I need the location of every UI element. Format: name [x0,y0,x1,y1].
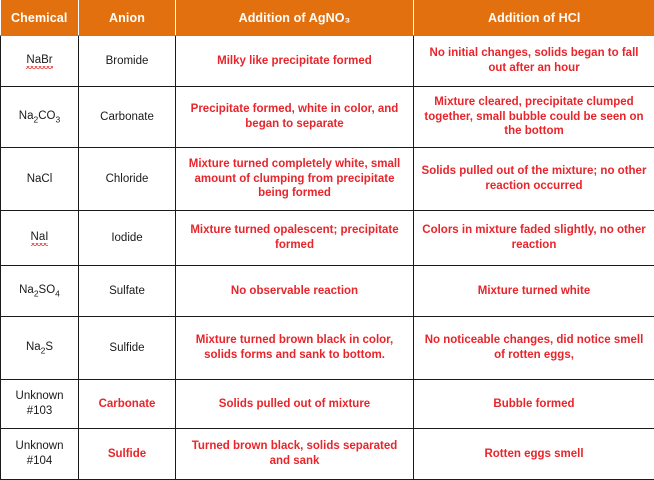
table-row: Na2SO4 Sulfate No observable reaction Mi… [1,266,654,317]
cell-chemical: NaCl [1,148,79,211]
cell-hcl-observation: Solids pulled out of the mixture; no oth… [414,148,654,211]
column-header-addition-of-hcl: Addition of HCl [414,0,654,36]
table-row: Na2CO3 Carbonate Precipitate formed, whi… [1,87,654,148]
cell-hcl-observation: Mixture turned white [414,266,654,317]
chemical-name: Na2S [26,341,53,353]
cell-hcl-observation: Bubble formed [414,380,654,429]
cell-anion: Chloride [79,148,176,211]
cell-chemical: NaBr [1,36,79,87]
cell-hcl-observation: No initial changes, solids began to fall… [414,36,654,87]
column-header-anion: Anion [79,0,176,36]
table-row: Unknown#104 Sulfide Turned brown black, … [1,429,654,480]
table-row: NaCl Chloride Mixture turned completely … [1,148,654,211]
cell-anion: Bromide [79,36,176,87]
cell-chemical: Na2SO4 [1,266,79,317]
cell-hcl-observation: Colors in mixture faded slightly, no oth… [414,211,654,266]
header-row: Chemical Anion Addition of AgNO₃ Additio… [1,0,654,36]
chemical-name: Na2SO4 [19,284,60,296]
cell-hcl-observation: Rotten eggs smell [414,429,654,480]
cell-agno3-observation: Precipitate formed, white in color, and … [176,87,414,148]
cell-anion: Sulfide [79,317,176,380]
cell-anion: Carbonate [79,87,176,148]
cell-agno3-observation: Turned brown black, solids separated and… [176,429,414,480]
cell-hcl-observation: No noticeable changes, did notice smell … [414,317,654,380]
chemical-name: NaBr [26,53,52,69]
cell-agno3-observation: Milky like precipitate formed [176,36,414,87]
table-row: NaBr Bromide Milky like precipitate form… [1,36,654,87]
table-body: NaBr Bromide Milky like precipitate form… [1,36,654,480]
cell-chemical: Na2CO3 [1,87,79,148]
table-row: NaI Iodide Mixture turned opalescent; pr… [1,211,654,266]
column-header-addition-of-agno3: Addition of AgNO₃ [176,0,414,36]
chemical-observations-table: Chemical Anion Addition of AgNO₃ Additio… [0,0,654,480]
cell-hcl-observation: Mixture cleared, precipitate clumped tog… [414,87,654,148]
table-row: Na2S Sulfide Mixture turned brown black … [1,317,654,380]
cell-agno3-observation: Mixture turned completely white, small a… [176,148,414,211]
table-header: Chemical Anion Addition of AgNO₃ Additio… [1,0,654,36]
cell-anion: Sulfide [79,429,176,480]
cell-chemical: NaI [1,211,79,266]
column-header-chemical: Chemical [1,0,79,36]
chemical-name: NaI [31,230,49,246]
cell-chemical: Unknown#103 [1,380,79,429]
cell-chemical: Unknown#104 [1,429,79,480]
chemical-name: NaCl [27,173,53,185]
cell-chemical: Na2S [1,317,79,380]
cell-anion: Sulfate [79,266,176,317]
cell-agno3-observation: No observable reaction [176,266,414,317]
cell-agno3-observation: Solids pulled out of mixture [176,380,414,429]
table-row: Unknown#103 Carbonate Solids pulled out … [1,380,654,429]
cell-anion: Iodide [79,211,176,266]
cell-agno3-observation: Mixture turned opalescent; precipitate f… [176,211,414,266]
cell-anion: Carbonate [79,380,176,429]
cell-agno3-observation: Mixture turned brown black in color, sol… [176,317,414,380]
chemical-name: Na2CO3 [19,110,60,122]
